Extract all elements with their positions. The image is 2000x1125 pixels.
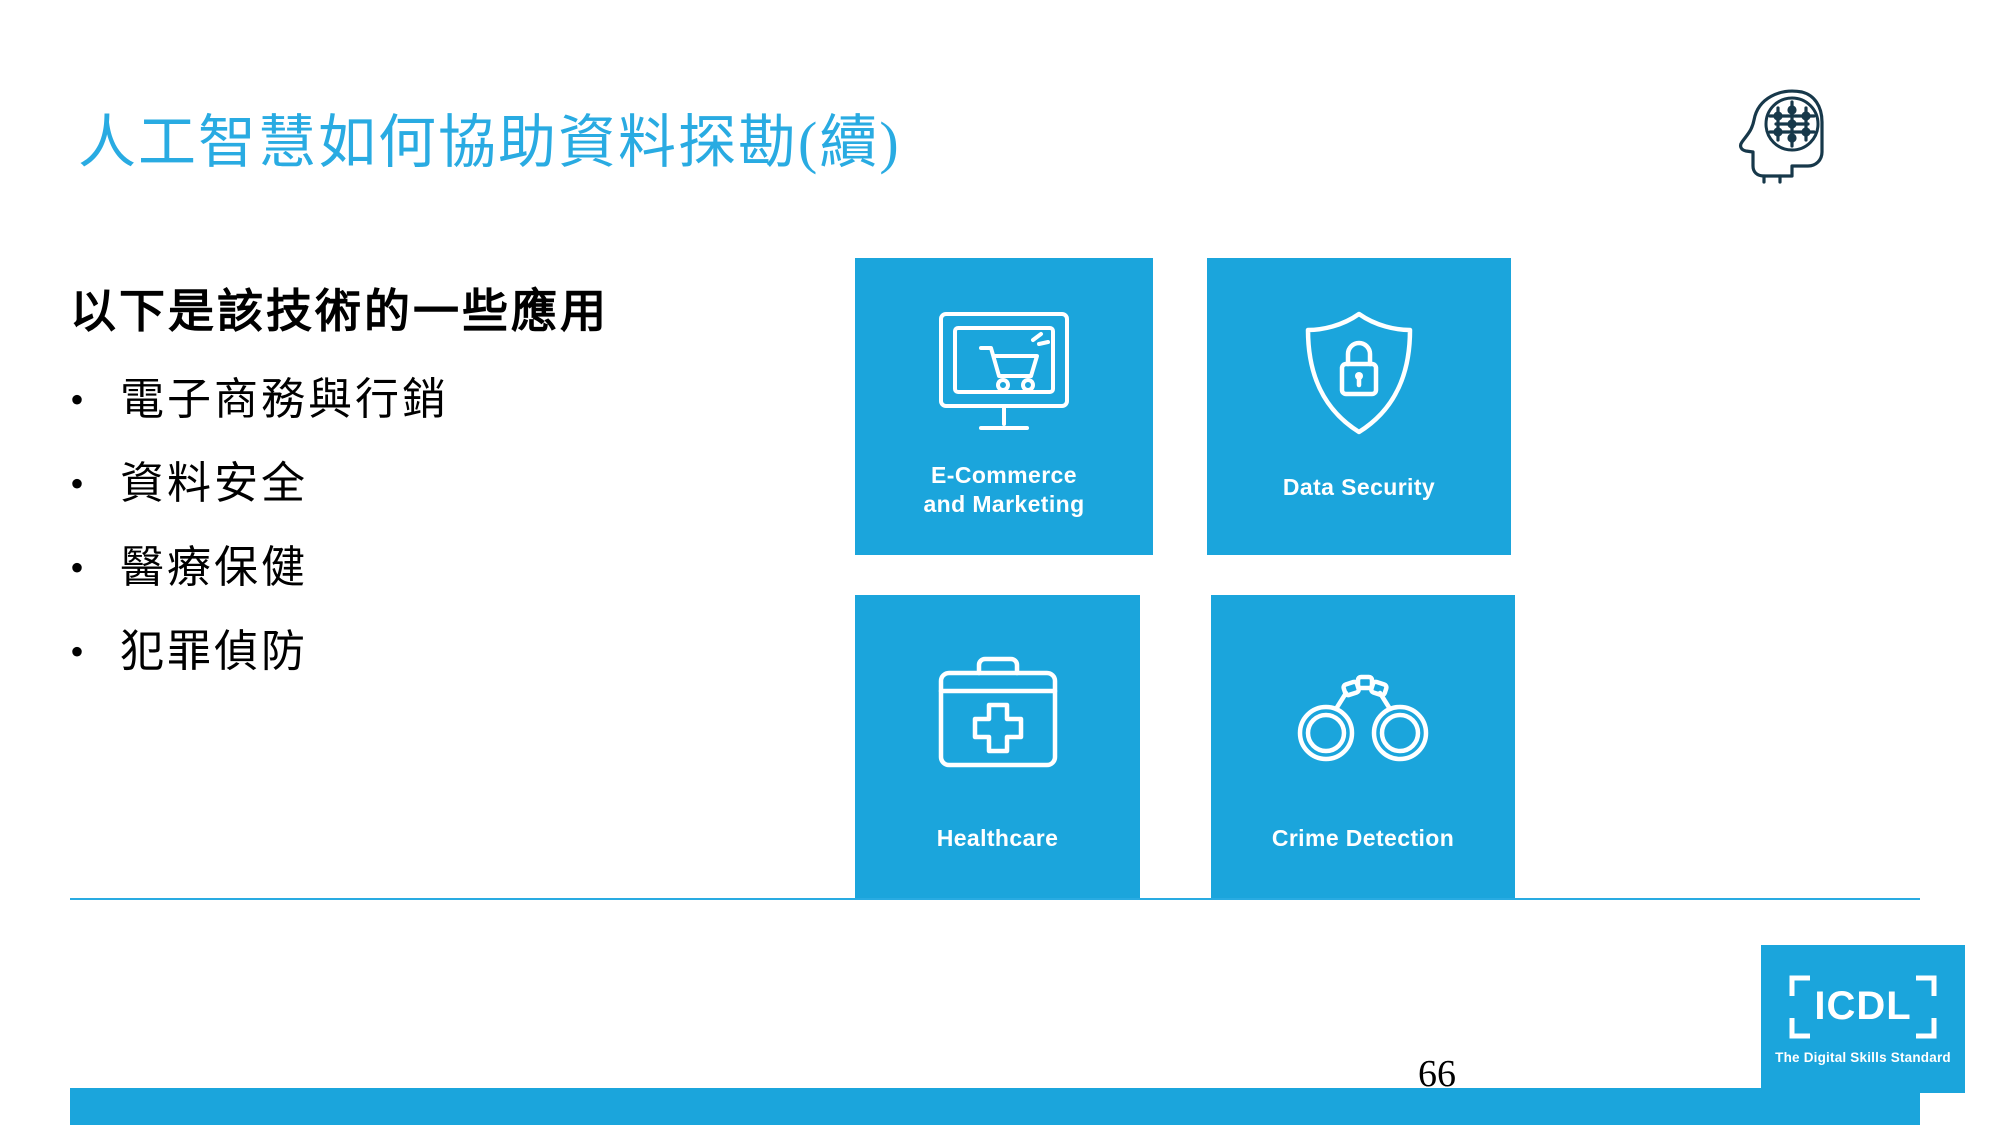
tile-label: E-Commerce and Marketing — [915, 461, 1092, 519]
list-item: 電子商務與行銷 — [62, 358, 842, 442]
tile-data-security: Data Security — [1207, 258, 1511, 555]
bracket-frame-icon — [1788, 974, 1938, 1040]
tile-label: Healthcare — [929, 824, 1067, 853]
logo-tagline: The Digital Skills Standard — [1775, 1050, 1951, 1065]
handcuffs-icon — [1288, 647, 1438, 782]
divider — [70, 898, 1920, 900]
shield-lock-icon — [1284, 306, 1434, 441]
monitor-cart-icon — [929, 306, 1079, 441]
brain-head-icon — [1730, 78, 1840, 188]
lead-text: 以下是該技術的一些應用 — [70, 275, 609, 341]
list-item: 犯罪偵防 — [62, 610, 842, 694]
list-item: 醫療保健 — [62, 526, 842, 610]
tile-healthcare: Healthcare — [855, 595, 1140, 900]
slide: 人工智慧如何協助資料探勘(續) 以下是該技術的一些應用 電子商務與行銷 資料安全… — [0, 0, 2000, 1125]
tile-crime-detection: Crime Detection — [1211, 595, 1515, 900]
bullet-list: 電子商務與行銷 資料安全 醫療保健 犯罪偵防 — [62, 358, 842, 694]
logo-mark: ICDL — [1788, 974, 1938, 1040]
page-title: 人工智慧如何協助資料探勘(續) — [78, 95, 901, 179]
first-aid-kit-icon — [923, 647, 1073, 782]
tile-label: Crime Detection — [1264, 824, 1462, 853]
list-item: 資料安全 — [62, 442, 842, 526]
application-tile-grid: E-Commerce and Marketing Data Security H… — [855, 258, 1520, 900]
tile-ecommerce: E-Commerce and Marketing — [855, 258, 1153, 555]
tile-label: Data Security — [1275, 473, 1443, 502]
icdl-logo: ICDL The Digital Skills Standard — [1761, 945, 1965, 1093]
bottom-bar — [70, 1088, 1920, 1125]
